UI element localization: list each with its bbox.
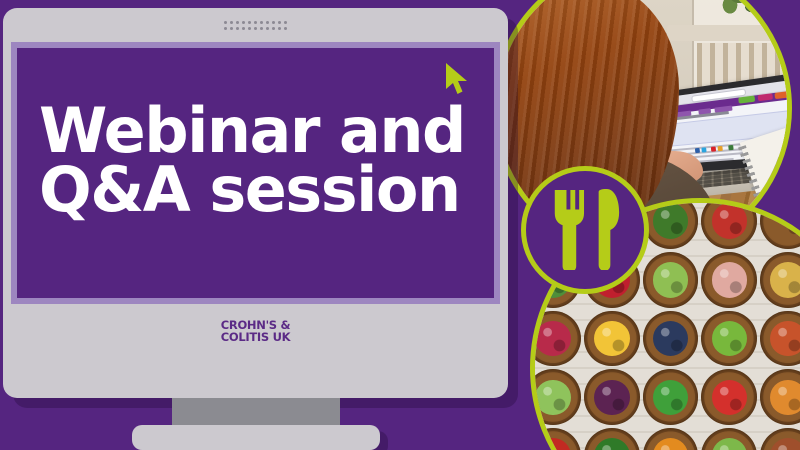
food-bowl: [643, 428, 699, 450]
speaker-dot-column: [236, 21, 239, 30]
food-bowl: [584, 428, 640, 450]
food-bowl: [701, 198, 757, 249]
food-bowl: [643, 369, 699, 425]
food-bowl: [701, 311, 757, 367]
food-bowl: [701, 428, 757, 450]
cutlery-badge: [521, 166, 649, 294]
speaker-dot-column: [230, 21, 233, 30]
food-bowl: [643, 252, 699, 308]
food-bowl: [584, 311, 640, 367]
speaker-dot-column: [266, 21, 269, 30]
speaker-dot-column: [272, 21, 275, 30]
food-bowl: [530, 311, 581, 367]
speaker-dot-column: [242, 21, 245, 30]
food-bowl: [701, 252, 757, 308]
mouse-cursor-arrow-icon: [444, 62, 470, 96]
food-bowl: [760, 428, 800, 450]
food-bowl: [760, 369, 800, 425]
speaker-dot-column: [284, 21, 287, 30]
food-bowl: [701, 369, 757, 425]
monitor-screen: Webinar and Q&A session: [17, 48, 494, 298]
poster-canvas: Webinar and Q&A session CROHN'S & COLITI…: [0, 0, 800, 450]
page-title: Webinar and Q&A session: [39, 102, 465, 220]
speaker-dot-column: [254, 21, 257, 30]
desktop-computer-monitor: Webinar and Q&A session CROHN'S & COLITI…: [3, 8, 508, 398]
speaker-dot-column: [248, 21, 251, 30]
food-bowl: [643, 198, 699, 249]
food-bowl: [760, 198, 800, 249]
social-icons-row: [694, 137, 736, 158]
food-bowl: [760, 311, 800, 367]
monitor-bezel: Webinar and Q&A session: [11, 42, 500, 304]
kitchen-counter: [667, 25, 792, 41]
monitor-base: [132, 425, 380, 450]
speaker-dot-column: [260, 21, 263, 30]
speaker-dot-column: [224, 21, 227, 30]
food-bowl: [530, 428, 581, 450]
food-bowl: [643, 311, 699, 367]
fork-and-knife-icon: [546, 186, 624, 275]
speaker-grille-icon: [3, 21, 508, 30]
food-bowl: [530, 369, 581, 425]
crohns-and-colitis-uk-logo: CROHN'S & COLITIS UK: [3, 320, 508, 343]
food-bowl: [584, 369, 640, 425]
food-bowl: [760, 252, 800, 308]
speaker-dot-column: [278, 21, 281, 30]
